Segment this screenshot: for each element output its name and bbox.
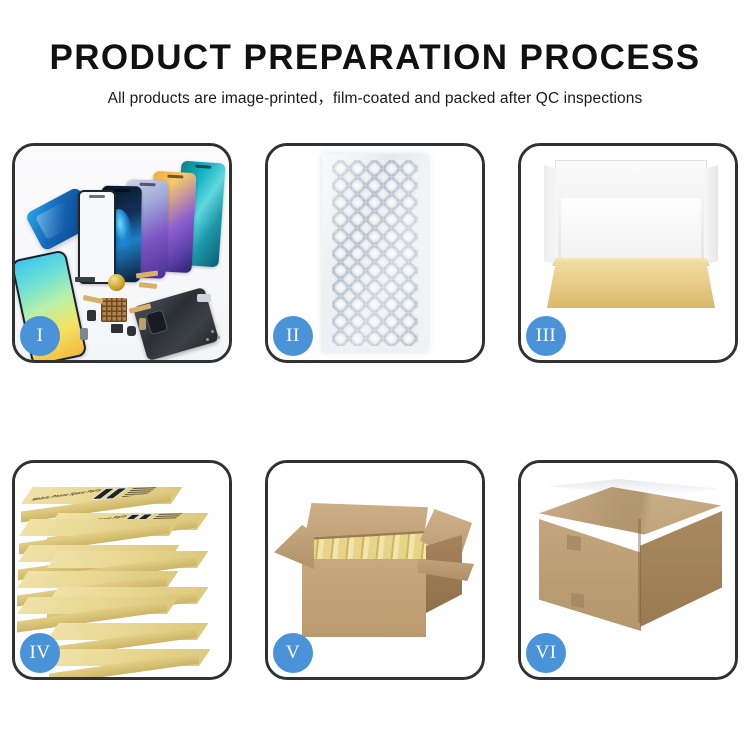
box-label-text-1: Mobile Phone Spare Parts	[30, 487, 105, 502]
carton-left-flap-icon	[274, 525, 314, 569]
sealed-carton-front-face-icon	[539, 519, 641, 631]
tool-part-icon	[197, 294, 211, 302]
flex-cable-3-icon	[83, 295, 104, 304]
small-part-3-icon	[127, 326, 136, 336]
small-part-1-icon	[87, 310, 96, 321]
chip-grid-part-icon	[101, 298, 127, 322]
small-part-4-icon	[80, 328, 88, 340]
process-step-panel-2[interactable]: II	[265, 143, 485, 363]
process-step-panel-4[interactable]: Mobile Phone Spare Parts Mobile Phone Sp…	[12, 460, 232, 680]
small-part-5-icon	[139, 318, 146, 330]
step-badge-1: I	[20, 316, 60, 356]
carton-corner-edge	[638, 519, 641, 623]
step-badge-2: II	[273, 316, 313, 356]
spare-parts-box-8	[17, 597, 167, 623]
foam-sheet-icon	[561, 198, 701, 264]
page-title: PRODUCT PREPARATION PROCESS	[0, 40, 750, 75]
process-step-grid: I II III	[12, 143, 738, 680]
spare-parts-box-9	[47, 623, 197, 649]
vibrator-coil-part-icon	[108, 274, 125, 291]
process-step-panel-5[interactable]: V	[265, 460, 485, 680]
earpiece-part-icon	[75, 277, 95, 282]
page-root: PRODUCT PREPARATION PROCESS All products…	[0, 0, 750, 750]
process-step-panel-3[interactable]: III	[518, 143, 738, 363]
carton-front-face-icon	[302, 559, 426, 637]
carton-tab-1-icon	[567, 535, 581, 551]
carton-tab-2-icon	[571, 593, 584, 608]
step-badge-6: VI	[526, 633, 566, 673]
step-badge-3: III	[526, 316, 566, 356]
wrap-sheen-overlay	[322, 154, 428, 352]
small-part-2-icon	[111, 324, 123, 333]
process-step-panel-1[interactable]: I	[12, 143, 232, 363]
flex-cable-2-icon	[139, 282, 157, 289]
spare-parts-box-3	[19, 519, 169, 545]
page-subtitle: All products are image-printed，film-coat…	[0, 86, 750, 108]
spare-parts-box-10	[49, 649, 199, 675]
phone-display-1-icon	[78, 190, 116, 284]
step-badge-5: V	[273, 633, 313, 673]
process-step-panel-6[interactable]: VI	[518, 460, 738, 680]
step-badge-4: IV	[20, 633, 60, 673]
kraft-tray-icon	[547, 264, 715, 308]
spare-parts-box-top-left: Mobile Phone Spare Parts	[21, 487, 171, 513]
